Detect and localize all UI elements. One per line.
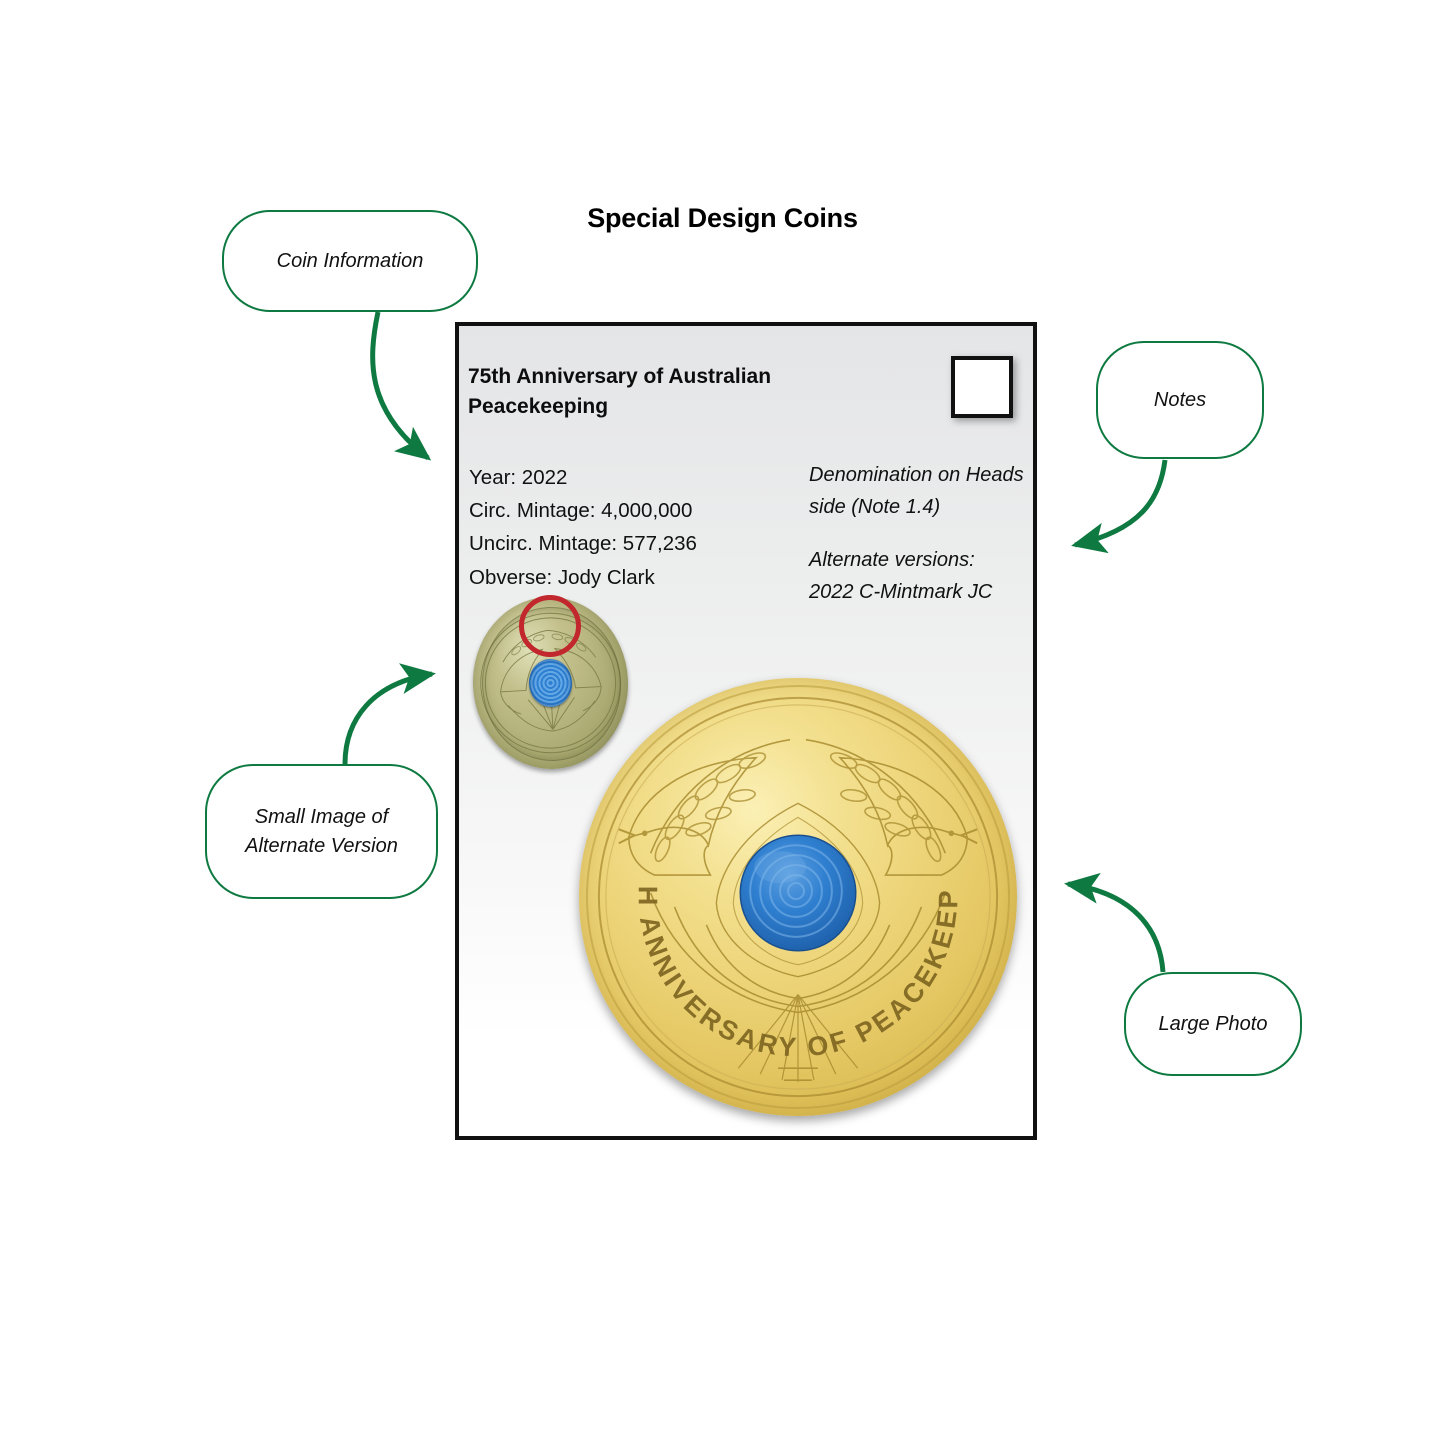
- callout-notes[interactable]: Notes: [1096, 341, 1264, 459]
- callout-small-image-line1: Small Image of: [255, 806, 388, 828]
- callout-coin-information-label: Coin Information: [277, 247, 424, 276]
- note-alternate-versions: Alternate versions: 2022 C-Mintmark JC: [809, 544, 1034, 609]
- arrow-coin-information: [373, 312, 428, 458]
- callout-large-photo[interactable]: Large Photo: [1124, 972, 1302, 1076]
- owned-checkbox[interactable]: [951, 356, 1013, 418]
- arrow-small-image: [345, 674, 432, 764]
- note-alternate-versions-label: Alternate versions:: [809, 544, 1034, 576]
- note-alternate-versions-value: 2022 C-Mintmark JC: [809, 576, 1034, 608]
- page-title: Special Design Coins: [0, 203, 1445, 234]
- callout-small-image-line2: Alternate Version: [245, 835, 398, 857]
- fact-circ-mintage: Circ. Mintage: 4,000,000: [469, 494, 697, 527]
- callout-small-image-label: Small Image of Alternate Version: [245, 803, 398, 861]
- coin-facts-list: Year: 2022 Circ. Mintage: 4,000,000 Unci…: [469, 461, 697, 594]
- coin-card-title: 75th Anniversary of Australian Peacekeep…: [468, 362, 868, 422]
- fact-uncirc-mintage: Uncirc. Mintage: 577,236: [469, 527, 697, 560]
- arrow-large-photo: [1068, 884, 1163, 972]
- large-coin-photo[interactable]: 75TH ANNIVERSARY OF PEACEKEEPING: [579, 678, 1017, 1116]
- arrow-notes: [1075, 460, 1165, 545]
- callout-small-image[interactable]: Small Image of Alternate Version: [205, 764, 438, 899]
- callout-notes-label: Notes: [1154, 386, 1206, 415]
- callout-coin-information[interactable]: Coin Information: [222, 210, 478, 312]
- callout-large-photo-label: Large Photo: [1159, 1010, 1268, 1039]
- coin-notes-list: Denomination on Heads side (Note 1.4) Al…: [809, 459, 1034, 609]
- note-denomination: Denomination on Heads side (Note 1.4): [809, 459, 1034, 524]
- mintmark-highlight-circle: [519, 595, 581, 657]
- coin-card[interactable]: 75th Anniversary of Australian Peacekeep…: [455, 322, 1037, 1140]
- fact-year: Year: 2022: [469, 461, 697, 494]
